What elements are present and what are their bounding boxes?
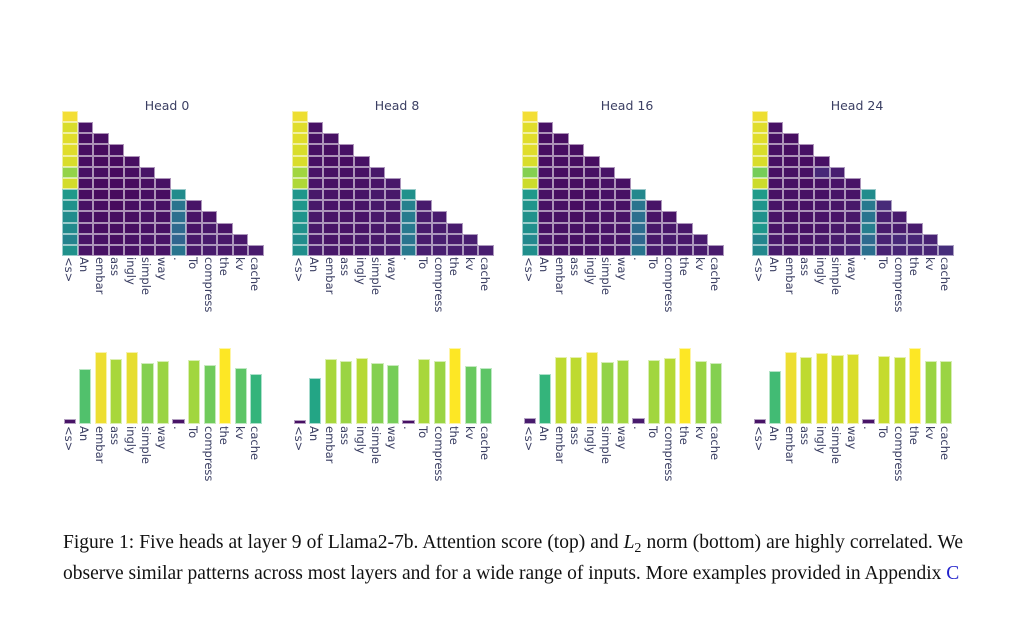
- heatmap-cell: [370, 211, 386, 222]
- heatmap-cell: [155, 189, 171, 200]
- tick-label: An: [768, 257, 780, 272]
- heatmap-cell: [752, 178, 768, 189]
- heatmap-cell: [522, 144, 538, 155]
- heatmap-cell: [814, 189, 830, 200]
- heatmap-cell: [752, 156, 768, 167]
- heatmap-cell: [62, 234, 78, 245]
- heatmap-cell: [600, 211, 616, 222]
- heatmap-cell: [308, 133, 324, 144]
- heatmap-cell: [799, 234, 815, 245]
- heatmap-cell: [323, 189, 339, 200]
- heatmap-cell: [124, 223, 140, 234]
- heatmap-cell: [323, 223, 339, 234]
- heatmap-cell: [814, 167, 830, 178]
- bar: [309, 378, 321, 424]
- heatmap-cell: [385, 200, 401, 211]
- heatmap-cell: [768, 245, 784, 256]
- heatmap-cell: [522, 122, 538, 133]
- tick-label: <s>: [292, 257, 304, 282]
- tick-label: kv: [923, 257, 935, 270]
- heatmap-cell: [861, 234, 877, 245]
- heatmap-cell: [401, 200, 417, 211]
- heatmap-cell: [124, 245, 140, 256]
- attention-heatmap: [752, 111, 954, 256]
- heatmap-cell: [845, 189, 861, 200]
- heatmap-cell: [861, 223, 877, 234]
- heatmap-cell: [401, 234, 417, 245]
- heatmap-cell: [292, 223, 308, 234]
- heatmap-cell: [308, 122, 324, 133]
- tick-label: simple: [370, 426, 382, 464]
- heatmap-cell: [78, 223, 94, 234]
- heatmap-cell: [768, 167, 784, 178]
- heatmap-cell: [538, 200, 554, 211]
- heatmap-cell: [463, 245, 479, 256]
- tick-label: ingly: [584, 426, 596, 454]
- heatmap-cell: [478, 245, 494, 256]
- heatmap-cell: [292, 189, 308, 200]
- l2-norm-bar-chart: [522, 344, 724, 424]
- heatmap-cell: [308, 167, 324, 178]
- heatmap-cell: [799, 200, 815, 211]
- bar: [188, 360, 200, 424]
- heatmap-cell: [584, 245, 600, 256]
- heatmap-cell: [463, 234, 479, 245]
- tick-label: ingly: [124, 257, 136, 285]
- tick-label: embar: [323, 426, 335, 463]
- heatmap-cell: [171, 189, 187, 200]
- heatmap-cell: [615, 178, 631, 189]
- heatmap-cell: [845, 178, 861, 189]
- bar: [172, 419, 184, 424]
- figure-caption: Figure 1: Five heads at layer 9 of Llama…: [63, 530, 963, 587]
- heatmap-cell: [354, 223, 370, 234]
- heatmap-cell: [109, 234, 125, 245]
- heatmap-cell: [432, 245, 448, 256]
- heatmap-cell: [538, 122, 554, 133]
- heatmap-cell: [569, 200, 585, 211]
- bar-x-tick-labels: <s>Anembarassinglysimpleway.Tocompressth…: [752, 426, 954, 496]
- heatmap-cell: [401, 245, 417, 256]
- heatmap-cell: [799, 223, 815, 234]
- tick-label: simple: [370, 257, 382, 295]
- bar: [402, 420, 414, 424]
- heatmap-cell: [233, 245, 249, 256]
- tick-label: ass: [799, 426, 811, 445]
- heatmap-cell: [600, 200, 616, 211]
- heatmap-cell: [615, 245, 631, 256]
- heatmap-cell: [569, 156, 585, 167]
- heatmap-cell: [186, 245, 202, 256]
- heatmap-cell: [308, 144, 324, 155]
- heatmap-cell: [155, 234, 171, 245]
- heatmap-cell: [62, 245, 78, 256]
- heatmap-cell: [814, 156, 830, 167]
- heatmap-cell: [783, 167, 799, 178]
- heatmap-cell: [354, 200, 370, 211]
- heatmap-cell: [385, 245, 401, 256]
- attention-heatmap: [522, 111, 724, 256]
- tick-label: .: [631, 426, 643, 430]
- heatmap-cell: [662, 234, 678, 245]
- heatmap-cell: [339, 234, 355, 245]
- tick-label: embar: [783, 426, 795, 463]
- heatmap-cell: [124, 156, 140, 167]
- heatmap-cell: [752, 111, 768, 122]
- heatmap-cell: [339, 211, 355, 222]
- heatmap-cell: [907, 234, 923, 245]
- heatmap-cell: [109, 189, 125, 200]
- bar: [356, 358, 368, 424]
- heatmap-cell: [752, 234, 768, 245]
- heatmap-cell: [553, 133, 569, 144]
- heatmap-cell: [233, 234, 249, 245]
- heatmap-cell: [385, 234, 401, 245]
- heatmap-cell: [538, 156, 554, 167]
- heatmap-cell: [553, 167, 569, 178]
- bar: [570, 357, 582, 424]
- heatmap-cell: [62, 144, 78, 155]
- heatmap-cell: [93, 156, 109, 167]
- heatmap-cell: [292, 211, 308, 222]
- tick-label: compress: [432, 257, 444, 312]
- heatmap-cell: [600, 189, 616, 200]
- tick-label: embar: [93, 426, 105, 463]
- heatmap-cell: [830, 223, 846, 234]
- heatmap-cell: [752, 122, 768, 133]
- tick-label: way: [156, 257, 168, 280]
- heatmap-cell: [385, 223, 401, 234]
- bar: [617, 360, 629, 424]
- heatmap-cell: [109, 178, 125, 189]
- tick-label: ass: [109, 426, 121, 445]
- heatmap-cell: [354, 234, 370, 245]
- heatmap-cell: [522, 223, 538, 234]
- heatmap-cell: [78, 178, 94, 189]
- bar: [64, 419, 76, 424]
- bar: [250, 374, 262, 424]
- heatmap-cell: [892, 245, 908, 256]
- heatmap-cell: [308, 245, 324, 256]
- heatmap-cell: [631, 211, 647, 222]
- heatmap-cell: [569, 144, 585, 155]
- tick-label: way: [156, 426, 168, 449]
- heatmap-cell: [124, 200, 140, 211]
- heatmap-cell: [171, 211, 187, 222]
- heatmap-cell: [677, 223, 693, 234]
- tick-label: way: [386, 257, 398, 280]
- heatmap-cell: [584, 156, 600, 167]
- heatmap-x-tick-labels: <s>Anembarassinglysimpleway.Tocompressth…: [292, 257, 494, 327]
- heatmap-cell: [522, 200, 538, 211]
- tick-label: ingly: [814, 257, 826, 285]
- heatmap-cell: [752, 133, 768, 144]
- heatmap-cell: [171, 245, 187, 256]
- heatmap-cell: [124, 189, 140, 200]
- heatmap-cell: [752, 245, 768, 256]
- heatmap-x-tick-labels: <s>Anembarassinglysimpleway.Tocompressth…: [752, 257, 954, 327]
- heatmap-cell: [783, 211, 799, 222]
- heatmap-cell: [202, 223, 218, 234]
- heatmap-cell: [799, 189, 815, 200]
- heatmap-cell: [62, 111, 78, 122]
- tick-label: the: [218, 426, 230, 445]
- heatmap-cell: [140, 167, 156, 178]
- heatmap-cell: [768, 234, 784, 245]
- tick-label: An: [308, 426, 320, 441]
- attention-heatmap: [292, 111, 494, 256]
- tick-label: embar: [323, 257, 335, 294]
- heatmap-cell: [799, 178, 815, 189]
- heatmap-cell: [432, 234, 448, 245]
- tick-label: cache: [249, 257, 261, 291]
- heatmap-cell: [752, 211, 768, 222]
- heatmap-cell: [522, 133, 538, 144]
- heatmap-cell: [339, 167, 355, 178]
- tick-label: way: [616, 426, 628, 449]
- bar: [79, 369, 91, 424]
- heatmap-cell: [140, 245, 156, 256]
- tick-label: An: [538, 257, 550, 272]
- heatmap-cell: [186, 223, 202, 234]
- bar: [785, 352, 797, 424]
- tick-label: <s>: [62, 426, 74, 451]
- heatmap-cell: [631, 200, 647, 211]
- heatmap-cell: [783, 133, 799, 144]
- tick-label: To: [877, 426, 889, 438]
- heatmap-cell: [783, 189, 799, 200]
- heatmap-cell: [217, 223, 233, 234]
- bar: [539, 374, 551, 424]
- tick-label: <s>: [522, 257, 534, 282]
- heatmap-cell: [752, 144, 768, 155]
- heatmap-cell: [538, 133, 554, 144]
- tick-label: ingly: [814, 426, 826, 454]
- tick-label: simple: [830, 426, 842, 464]
- tick-label: compress: [662, 426, 674, 481]
- heatmap-cell: [447, 245, 463, 256]
- heatmap-cell: [78, 133, 94, 144]
- heatmap-cell: [553, 156, 569, 167]
- heatmap-cell: [907, 223, 923, 234]
- tick-label: .: [861, 257, 873, 261]
- heatmap-cell: [292, 178, 308, 189]
- heatmap-cell: [799, 167, 815, 178]
- heatmap-cell: [538, 144, 554, 155]
- heatmap-cell: [876, 234, 892, 245]
- bar: [695, 361, 707, 424]
- tick-label: An: [538, 426, 550, 441]
- heatmap-cell: [308, 189, 324, 200]
- tick-label: the: [218, 257, 230, 276]
- heatmap-cell: [783, 200, 799, 211]
- tick-label: ass: [569, 257, 581, 276]
- heatmap-cell: [600, 234, 616, 245]
- bar: [555, 357, 567, 424]
- caption-symbol-L: L: [624, 532, 635, 553]
- heatmap-cell: [217, 234, 233, 245]
- heatmap-cell: [140, 189, 156, 200]
- heatmap-cell: [768, 178, 784, 189]
- heatmap-cell: [155, 223, 171, 234]
- heatmap-cell: [553, 234, 569, 245]
- heatmap-cell: [78, 189, 94, 200]
- tick-label: cache: [939, 257, 951, 291]
- heatmap-cell: [93, 144, 109, 155]
- heatmap-cell: [799, 211, 815, 222]
- tick-label: kv: [233, 426, 245, 439]
- heatmap-cell: [861, 245, 877, 256]
- heatmap-cell: [646, 211, 662, 222]
- tick-label: <s>: [62, 257, 74, 282]
- heatmap-cell: [323, 167, 339, 178]
- panel-head-2: Head 16<s>Anembarassinglysimpleway.Tocom…: [512, 0, 742, 500]
- heatmap-cell: [140, 178, 156, 189]
- tick-label: cache: [479, 257, 491, 291]
- bar: [480, 368, 492, 424]
- heatmap-cell: [62, 133, 78, 144]
- heatmap-cell: [109, 223, 125, 234]
- heatmap-cell: [323, 144, 339, 155]
- heatmap-cell: [323, 200, 339, 211]
- heatmap-cell: [923, 234, 939, 245]
- heatmap-cell: [416, 200, 432, 211]
- tick-label: the: [448, 426, 460, 445]
- heatmap-cell: [78, 234, 94, 245]
- heatmap-cell: [78, 167, 94, 178]
- tick-label: cache: [709, 426, 721, 460]
- bar: [126, 352, 138, 424]
- tick-label: ass: [339, 426, 351, 445]
- heatmap-cell: [553, 245, 569, 256]
- panel-head-3: Head 24<s>Anembarassinglysimpleway.Tocom…: [742, 0, 972, 500]
- tick-label: To: [877, 257, 889, 269]
- heatmap-cell: [339, 200, 355, 211]
- tick-label: ass: [339, 257, 351, 276]
- heatmap-cell: [923, 245, 939, 256]
- heatmap-cell: [615, 234, 631, 245]
- heatmap-cell: [600, 178, 616, 189]
- heatmap-cell: [62, 178, 78, 189]
- bar: [387, 365, 399, 424]
- heatmap-cell: [783, 144, 799, 155]
- heatmap-cell: [615, 223, 631, 234]
- heatmap-cell: [553, 144, 569, 155]
- heatmap-cell: [339, 156, 355, 167]
- tick-label: .: [171, 426, 183, 430]
- bar: [831, 355, 843, 424]
- tick-label: .: [401, 257, 413, 261]
- heatmap-cell: [323, 234, 339, 245]
- heatmap-cell: [907, 245, 923, 256]
- tick-label: To: [647, 257, 659, 269]
- heatmap-cell: [892, 234, 908, 245]
- heatmap-cell: [892, 211, 908, 222]
- heatmap-cell: [62, 189, 78, 200]
- heatmap-cell: [248, 245, 264, 256]
- heatmap-cell: [308, 211, 324, 222]
- bar: [632, 418, 644, 424]
- bar: [769, 371, 781, 424]
- tick-label: embar: [783, 257, 795, 294]
- heatmap-cell: [646, 223, 662, 234]
- heatmap-cell: [202, 245, 218, 256]
- caption-appendix-link[interactable]: C: [946, 563, 959, 584]
- heatmap-cell: [646, 234, 662, 245]
- heatmap-cell: [768, 211, 784, 222]
- heatmap-cell: [292, 111, 308, 122]
- heatmap-cell: [830, 178, 846, 189]
- tick-label: compress: [432, 426, 444, 481]
- tick-label: simple: [140, 257, 152, 295]
- heatmap-cell: [799, 245, 815, 256]
- heatmap-cell: [140, 200, 156, 211]
- heatmap-cell: [292, 167, 308, 178]
- heatmap-cell: [339, 223, 355, 234]
- heatmap-cell: [522, 234, 538, 245]
- heatmap-cell: [78, 156, 94, 167]
- bar: [157, 361, 169, 424]
- heatmap-cell: [646, 245, 662, 256]
- heatmap-cell: [292, 234, 308, 245]
- caption-prefix: Figure 1:: [63, 532, 134, 553]
- heatmap-cell: [538, 189, 554, 200]
- heatmap-cell: [522, 178, 538, 189]
- heatmap-cell: [370, 234, 386, 245]
- bar: [754, 419, 766, 424]
- tick-label: To: [187, 257, 199, 269]
- heatmap-cell: [522, 167, 538, 178]
- heatmap-cell: [553, 211, 569, 222]
- heatmap-cell: [814, 245, 830, 256]
- heatmap-cell: [308, 156, 324, 167]
- heatmap-cell: [814, 211, 830, 222]
- heatmap-cell: [569, 245, 585, 256]
- bar: [847, 354, 859, 424]
- heatmap-cell: [752, 223, 768, 234]
- tick-label: cache: [249, 426, 261, 460]
- bar: [664, 358, 676, 424]
- heatmap-cell: [292, 200, 308, 211]
- heatmap-cell: [217, 245, 233, 256]
- bar: [925, 361, 937, 424]
- heatmap-cell: [432, 211, 448, 222]
- bar: [710, 363, 722, 424]
- panel-head-1: Head 8<s>Anembarassinglysimpleway.Tocomp…: [282, 0, 512, 500]
- heatmap-cell: [799, 144, 815, 155]
- tick-label: <s>: [522, 426, 534, 451]
- heatmap-cell: [155, 245, 171, 256]
- tick-label: embar: [553, 257, 565, 294]
- heatmap-cell: [584, 178, 600, 189]
- heatmap-cell: [814, 223, 830, 234]
- heatmap-cell: [538, 211, 554, 222]
- heatmap-cell: [109, 156, 125, 167]
- heatmap-cell: [600, 223, 616, 234]
- tick-label: way: [616, 257, 628, 280]
- l2-norm-bar-chart: [62, 344, 264, 424]
- heatmap-cell: [292, 144, 308, 155]
- heatmap-cell: [186, 200, 202, 211]
- heatmap-cell: [845, 234, 861, 245]
- heatmap-cell: [171, 234, 187, 245]
- heatmap-cell: [202, 234, 218, 245]
- bar-x-tick-labels: <s>Anembarassinglysimpleway.Tocompressth…: [292, 426, 494, 496]
- heatmap-cell: [401, 223, 417, 234]
- heatmap-cell: [447, 223, 463, 234]
- heatmap-cell: [370, 189, 386, 200]
- heatmap-cell: [677, 234, 693, 245]
